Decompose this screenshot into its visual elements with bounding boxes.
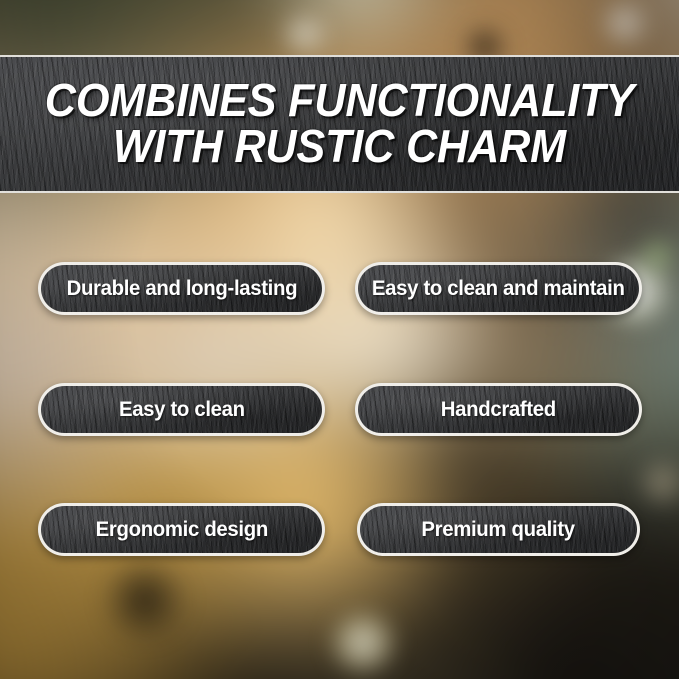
feature-pill-premium-quality: Premium quality <box>357 503 640 556</box>
feature-pill-durable-and-long-lasting: Durable and long-lasting <box>38 262 325 315</box>
page-title: COMBINES FUNCTIONALITY WITH RUSTIC CHARM <box>35 78 643 169</box>
feature-pill-label: Easy to clean and maintain <box>372 277 625 301</box>
feature-pill-label: Easy to clean <box>119 398 245 422</box>
product-feature-graphic: COMBINES FUNCTIONALITY WITH RUSTIC CHARM… <box>0 0 679 679</box>
feature-pill-label: Premium quality <box>422 518 575 542</box>
feature-pill-handcrafted: Handcrafted <box>355 383 642 436</box>
feature-pill-easy-to-clean: Easy to clean <box>38 383 325 436</box>
feature-pill-easy-to-clean-and-maintain: Easy to clean and maintain <box>355 262 642 315</box>
feature-pill-label: Handcrafted <box>441 398 556 422</box>
page-title-line-1: COMBINES FUNCTIONALITY <box>45 74 634 126</box>
page-title-line-2: WITH RUSTIC CHARM <box>45 124 634 170</box>
feature-pill-ergonomic-design: Ergonomic design <box>38 503 325 556</box>
headline-banner: COMBINES FUNCTIONALITY WITH RUSTIC CHARM <box>0 55 679 193</box>
feature-pill-label: Ergonomic design <box>95 518 267 542</box>
feature-pill-label: Durable and long-lasting <box>66 277 297 301</box>
